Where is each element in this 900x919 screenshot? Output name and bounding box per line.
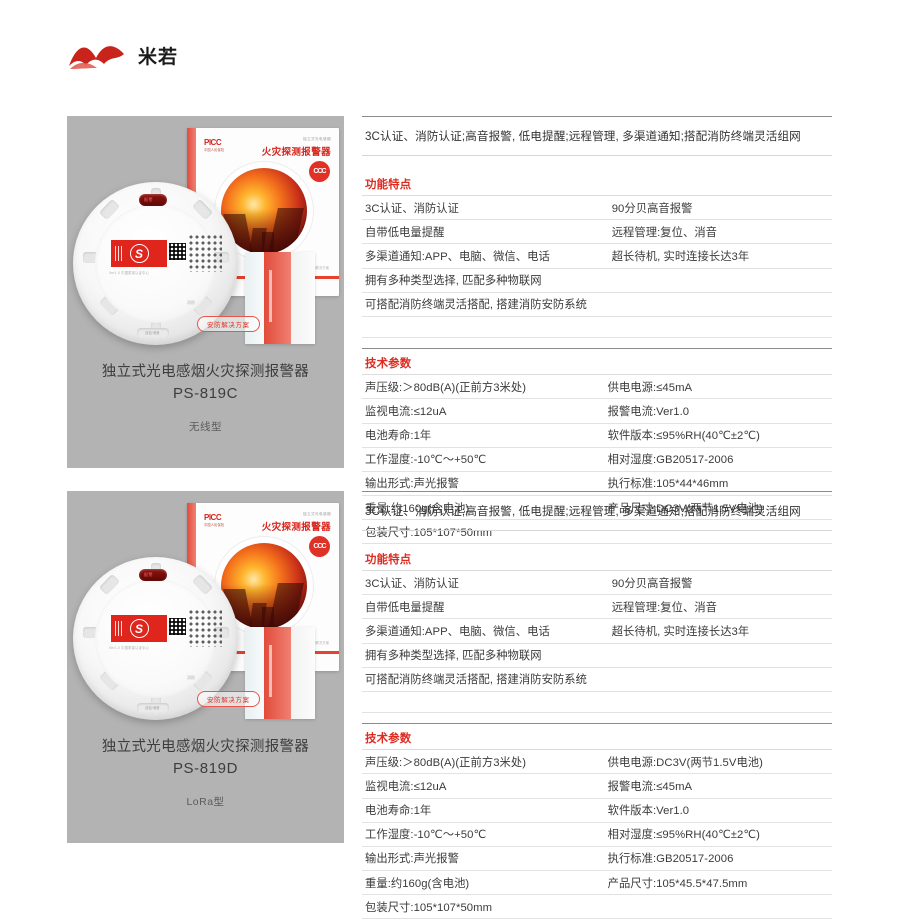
detector-red-label: S xyxy=(111,240,167,267)
feature-cell: 90分贝高音报警 xyxy=(609,196,832,220)
spec-cell: 供电电源:DC3V(两节1.5V电池) xyxy=(605,750,832,774)
table-row: 电池寿命:1年 软件版本:Ver1.0 xyxy=(362,798,832,822)
specs-heading: 技术参数 xyxy=(362,349,832,375)
feature-cell: 拥有多种类型选择, 匹配多种物联网 xyxy=(362,643,609,667)
table-row: 监视电流:≤12uA 报警电流:≤45mA xyxy=(362,774,832,798)
table-row: 3C认证、消防认证 90分贝高音报警 xyxy=(362,196,832,220)
specs-table-2: 技术参数 声压级:＞80dB(A)(正前方3米处) 供电电源:DC3V(两节1.… xyxy=(362,723,832,919)
product-model: PS-819C xyxy=(67,385,344,402)
brand-header: 米若 xyxy=(67,38,178,72)
feature-cell: 远程管理:复位、消音 xyxy=(609,595,832,619)
product-tagline: 3C认证、消防认证;高音报警, 低电提醒;远程管理, 多渠道通知;搭配消防终端灵… xyxy=(362,117,832,156)
photo-ribbon: 安防解决方案 xyxy=(197,691,260,707)
spec-cell: 执行标准:GB20517-2006 xyxy=(605,846,832,870)
spec-cell: 声压级:＞80dB(A)(正前方3米处) xyxy=(362,750,605,774)
feature-cell: 3C认证、消防认证 xyxy=(362,196,609,220)
table-row: 自带低电量提醒 远程管理:复位、消音 xyxy=(362,220,832,244)
tagline-table-1: 3C认证、消防认证;高音报警, 低电提醒;远程管理, 多渠道通知;搭配消防终端灵… xyxy=(362,116,832,156)
box-title: 火灾探测报警器 xyxy=(262,519,331,533)
product-tables-1: 3C认证、消防认证;高音报警, 低电提醒;远程管理, 多渠道通知;搭配消防终端灵… xyxy=(362,116,832,544)
table-row: 重量:约160g(含电池) 产品尺寸:105*45.5*47.5mm xyxy=(362,871,832,895)
table-spacer-row xyxy=(362,691,832,712)
feature-cell: 90分贝高音报警 xyxy=(609,571,832,595)
box-subtitle: 独立式光电感烟 xyxy=(303,137,331,142)
photo-ribbon: 安防解决方案 xyxy=(197,316,260,332)
spec-cell: 电池寿命:1年 xyxy=(362,798,605,822)
feature-cell: 可搭配消防终端灵活搭配, 搭建消防安防系统 xyxy=(362,292,609,316)
table-row: 电池寿命:1年 软件版本:≤95%RH(40℃±2℃) xyxy=(362,423,832,447)
brand-name: 米若 xyxy=(138,42,178,69)
table-row: 3C认证、消防认证;高音报警, 低电提醒;远程管理, 多渠道通知;搭配消防终端灵… xyxy=(362,492,832,531)
table-row: 自带低电量提醒 远程管理:复位、消音 xyxy=(362,595,832,619)
product-name: 独立式光电感烟火灾探测报警器 xyxy=(67,737,344,758)
catalog-page: 米若 PICC 中国人民保险 独立式光电感烟 火灾探测报警器 CCC xyxy=(0,0,900,885)
spec-cell: 软件版本:≤95%RH(40℃±2℃) xyxy=(605,423,832,447)
table-row: 多渠道通知:APP、电脑、微信、电话 超长待机, 实时连接长达3年 xyxy=(362,619,832,643)
spec-cell: 工作湿度:-10℃～+50℃ xyxy=(362,447,605,471)
product-tagline: 3C认证、消防认证;高音报警, 低电提醒;远程管理, 多渠道通知;搭配消防终端灵… xyxy=(362,492,832,531)
product-variant: 无线型 xyxy=(67,419,344,434)
features-heading: 功能特点 xyxy=(362,170,832,196)
table-row: 拥有多种类型选择, 匹配多种物联网 xyxy=(362,643,832,667)
s-mark-icon: S xyxy=(130,244,149,263)
product-model: PS-819D xyxy=(67,760,344,777)
spec-cell: 相对湿度:GB20517-2006 xyxy=(605,447,832,471)
feature-cell: 3C认证、消防认证 xyxy=(362,571,609,595)
picc-logo-icon: PICC 中国人民保险 xyxy=(204,513,224,527)
spec-cell: 电池寿命:1年 xyxy=(362,423,605,447)
spec-cell: 监视电流:≤12uA xyxy=(362,399,605,423)
product-photo-2: PICC 中国人民保险 独立式光电感烟 火灾探测报警器 CCC 智慧消防预警解决… xyxy=(67,499,344,729)
table-row: 可搭配消防终端灵活搭配, 搭建消防安防系统 xyxy=(362,292,832,316)
product-caption-1: 独立式光电感烟火灾探测报警器 PS-819C 无线型 xyxy=(67,362,344,434)
photo-ribbon-small: 消防 xyxy=(187,300,195,306)
table-row: 包装尺寸:105*107*50mm xyxy=(362,895,832,919)
feature-cell: 超长待机, 实时连接长达3年 xyxy=(609,619,832,643)
tagline-table-2: 3C认证、消防认证;高音报警, 低电提醒;远程管理, 多渠道通知;搭配消防终端灵… xyxy=(362,491,832,531)
feature-cell: 自带低电量提醒 xyxy=(362,595,609,619)
photo-ribbon-small: 消防 xyxy=(187,675,195,681)
spec-cell: 报警电流:≤45mA xyxy=(605,774,832,798)
spec-cell: 输出形式:声光报警 xyxy=(362,846,605,870)
features-heading: 功能特点 xyxy=(362,545,832,571)
qr-code-icon xyxy=(168,242,187,261)
feature-cell xyxy=(609,667,832,691)
label-bars-icon xyxy=(115,621,124,636)
product-caption-2: 独立式光电感烟火灾探测报警器 PS-819D LoRa型 xyxy=(67,737,344,809)
spec-cell: 声压级:＞80dB(A)(正前方3米处) xyxy=(362,375,605,399)
table-header-row: 功能特点 xyxy=(362,545,832,571)
table-row: 3C认证、消防认证 90分贝高音报警 xyxy=(362,571,832,595)
table-header-row: 技术参数 xyxy=(362,724,832,750)
self-test-button: 自检/消音 xyxy=(137,328,169,338)
spec-cell: 包装尺寸:105*107*50mm xyxy=(362,895,605,919)
spec-cell xyxy=(605,895,832,919)
table-row: 工作湿度:-10℃～+50℃ 相对湿度:≤95%RH(40℃±2℃) xyxy=(362,822,832,846)
feature-cell: 超长待机, 实时连接长达3年 xyxy=(609,244,832,268)
spec-cell: 监视电流:≤12uA xyxy=(362,774,605,798)
feature-cell: 多渠道通知:APP、电脑、微信、电话 xyxy=(362,619,609,643)
ccc-certification-icon: CCC xyxy=(309,536,330,557)
product-variant: LoRa型 xyxy=(67,794,344,809)
table-row: 声压级:＞80dB(A)(正前方3米处) 供电电源:≤45mA xyxy=(362,375,832,399)
feature-cell: 多渠道通知:APP、电脑、微信、电话 xyxy=(362,244,609,268)
detector-label-note: Ver1.0 中国质量认证中心 xyxy=(109,645,149,650)
table-row: 拥有多种类型选择, 匹配多种物联网 xyxy=(362,268,832,292)
product-photo-panel-2: PICC 中国人民保险 独立式光电感烟 火灾探测报警器 CCC 智慧消防预警解决… xyxy=(67,491,344,843)
mountain-wave-logo-icon xyxy=(67,38,129,72)
speaker-grille-icon xyxy=(188,234,222,272)
table-row: 监视电流:≤12uA 报警电流:Ver1.0 xyxy=(362,399,832,423)
self-test-button: 自检/消音 xyxy=(137,703,169,713)
spec-cell: 供电电源:≤45mA xyxy=(605,375,832,399)
table-row: 输出形式:声光报警 执行标准:GB20517-2006 xyxy=(362,846,832,870)
specs-heading: 技术参数 xyxy=(362,724,832,750)
spec-cell: 产品尺寸:105*45.5*47.5mm xyxy=(605,871,832,895)
features-table-1: 功能特点 3C认证、消防认证 90分贝高音报警 自带低电量提醒 远程管理:复位、… xyxy=(362,170,832,338)
table-row: 可搭配消防终端灵活搭配, 搭建消防安防系统 xyxy=(362,667,832,691)
feature-cell: 远程管理:复位、消音 xyxy=(609,220,832,244)
feature-cell xyxy=(609,643,832,667)
feature-cell xyxy=(609,292,832,316)
feature-cell: 可搭配消防终端灵活搭配, 搭建消防安防系统 xyxy=(362,667,609,691)
ccc-certification-icon: CCC xyxy=(309,161,330,182)
table-row: 多渠道通知:APP、电脑、微信、电话 超长待机, 实时连接长达3年 xyxy=(362,244,832,268)
s-mark-icon: S xyxy=(130,619,149,638)
features-table-2: 功能特点 3C认证、消防认证 90分贝高音报警 自带低电量提醒 远程管理:复位、… xyxy=(362,545,832,713)
spec-cell: 相对湿度:≤95%RH(40℃±2℃) xyxy=(605,822,832,846)
detector-red-label: S xyxy=(111,615,167,642)
spec-cell: 工作湿度:-10℃～+50℃ xyxy=(362,822,605,846)
table-row: 工作湿度:-10℃～+50℃ 相对湿度:GB20517-2006 xyxy=(362,447,832,471)
feature-cell: 拥有多种类型选择, 匹配多种物联网 xyxy=(362,268,609,292)
product-name: 独立式光电感烟火灾探测报警器 xyxy=(67,362,344,383)
alarm-led-indicator-icon: 报警 xyxy=(139,569,167,581)
box-subtitle: 独立式光电感烟 xyxy=(303,512,331,517)
feature-cell: 自带低电量提醒 xyxy=(362,220,609,244)
table-spacer-row xyxy=(362,316,832,337)
feature-cell xyxy=(609,268,832,292)
alarm-led-indicator-icon: 报警 xyxy=(139,194,167,206)
product-tables-2: 3C认证、消防认证;高音报警, 低电提醒;远程管理, 多渠道通知;搭配消防终端灵… xyxy=(362,491,832,919)
table-header-row: 技术参数 xyxy=(362,349,832,375)
spec-cell: 重量:约160g(含电池) xyxy=(362,871,605,895)
qr-code-icon xyxy=(168,617,187,636)
box-title: 火灾探测报警器 xyxy=(262,144,331,158)
product-photo-panel-1: PICC 中国人民保险 独立式光电感烟 火灾探测报警器 CCC 智慧消防预警解决… xyxy=(67,116,344,468)
picc-logo-icon: PICC 中国人民保险 xyxy=(204,138,224,152)
product-photo-1: PICC 中国人民保险 独立式光电感烟 火灾探测报警器 CCC 智慧消防预警解决… xyxy=(67,124,344,354)
table-row: 声压级:＞80dB(A)(正前方3米处) 供电电源:DC3V(两节1.5V电池) xyxy=(362,750,832,774)
spec-cell: 软件版本:Ver1.0 xyxy=(605,798,832,822)
table-row: 3C认证、消防认证;高音报警, 低电提醒;远程管理, 多渠道通知;搭配消防终端灵… xyxy=(362,117,832,156)
table-header-row: 功能特点 xyxy=(362,170,832,196)
label-bars-icon xyxy=(115,246,124,261)
speaker-grille-icon xyxy=(188,609,222,647)
detector-label-note: Ver1.0 中国质量认证中心 xyxy=(109,270,149,275)
spec-cell: 报警电流:Ver1.0 xyxy=(605,399,832,423)
